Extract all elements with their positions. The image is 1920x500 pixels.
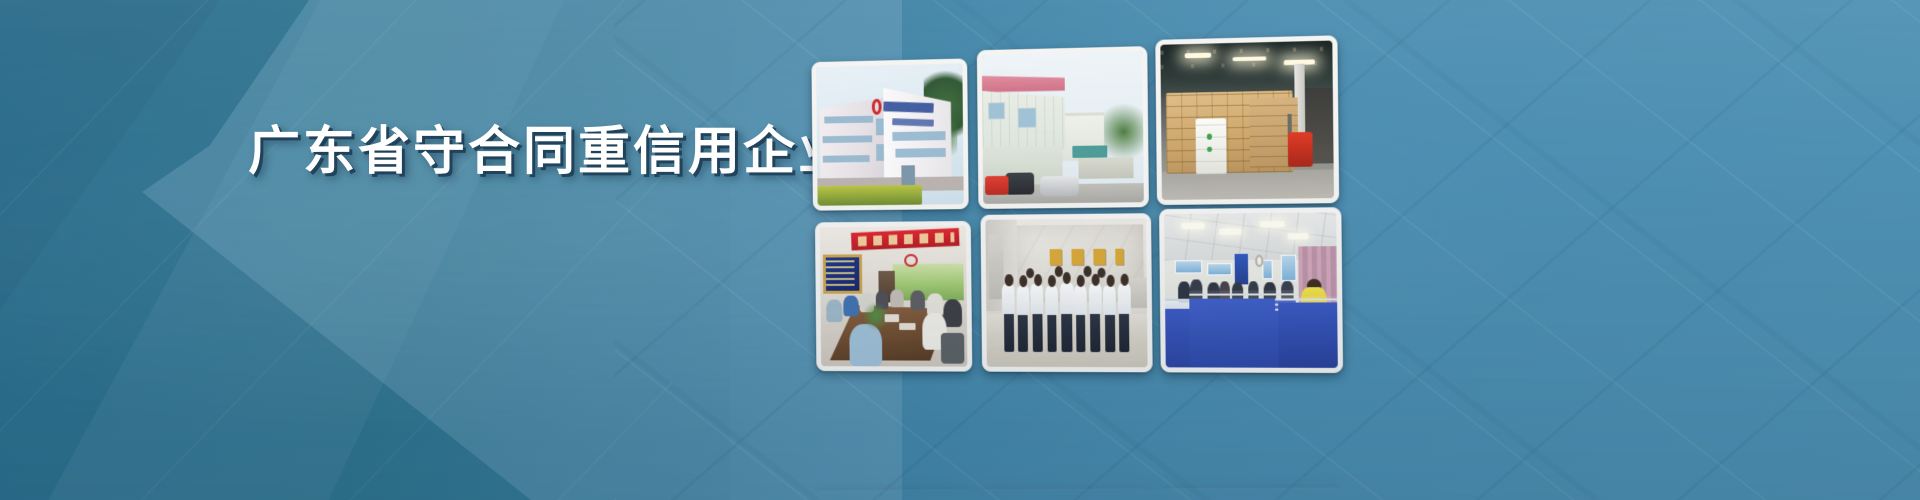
company-banner: 广东省守合同重信用企业: [0, 0, 1920, 500]
banner-vignette: [0, 0, 1920, 500]
